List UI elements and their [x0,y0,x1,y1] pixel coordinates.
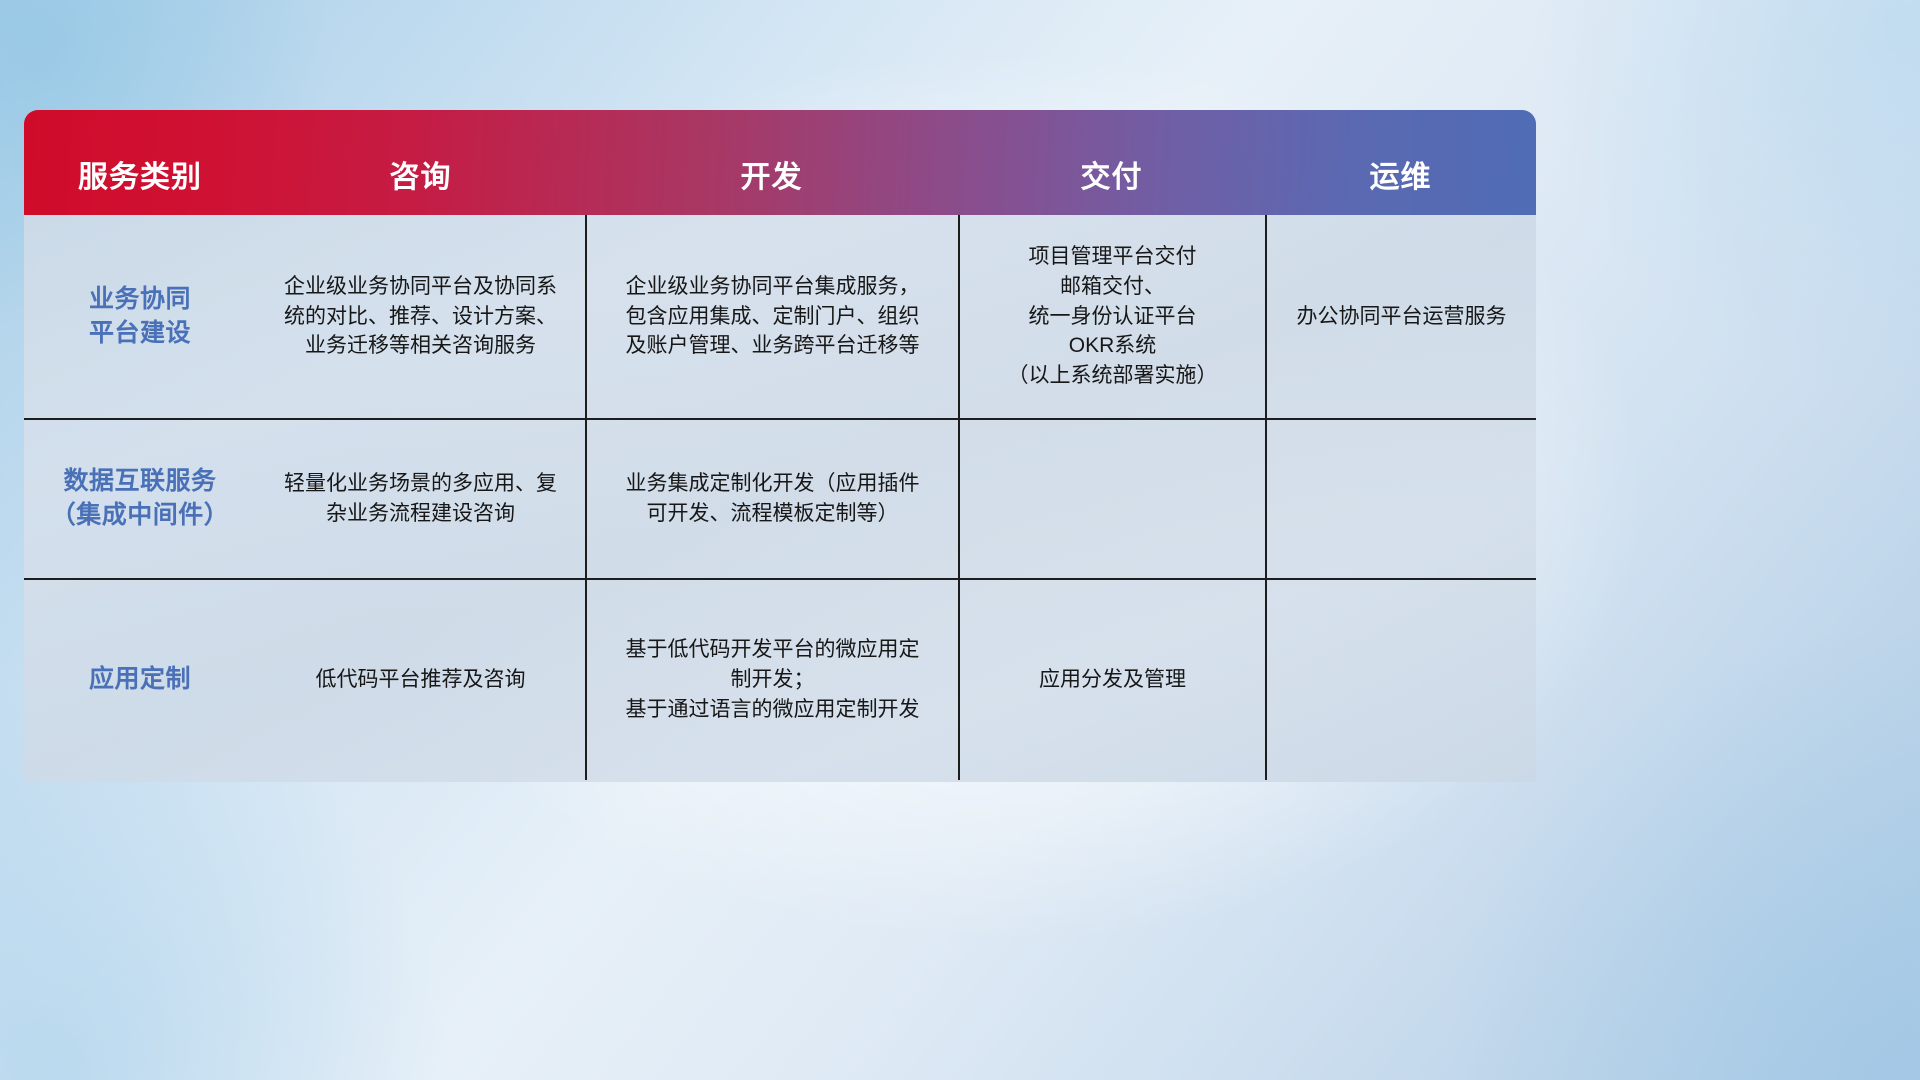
row-category-label: 数据互联服务 （集成中间件） [24,420,256,578]
column-header-development: 开发 [585,163,958,193]
cell-operations [1265,580,1536,780]
cell-delivery: 应用分发及管理 [958,580,1265,780]
row-category-label: 业务协同 平台建设 [24,215,256,418]
column-header-category: 服务类别 [24,163,256,193]
column-header-consulting: 咨询 [256,163,585,193]
column-header-delivery: 交付 [958,163,1265,193]
column-header-operations: 运维 [1265,163,1536,193]
service-matrix-table: 服务类别 咨询 开发 交付 运维 业务协同 平台建设 企业级业务协同平台及协同系… [24,110,1536,782]
cell-consulting: 企业级业务协同平台及协同系 统的对比、推荐、设计方案、 业务迁移等相关咨询服务 [256,215,585,418]
row-category-label: 应用定制 [24,580,256,780]
cell-operations [1265,420,1536,578]
table-header-row: 服务类别 咨询 开发 交付 运维 [24,110,1536,215]
cell-development: 业务集成定制化开发（应用插件 可开发、流程模板定制等） [585,420,958,578]
cell-delivery [958,420,1265,578]
cell-delivery: 项目管理平台交付 邮箱交付、 统一身份认证平台 OKR系统 （以上系统部署实施） [958,215,1265,418]
cell-consulting: 轻量化业务场景的多应用、复 杂业务流程建设咨询 [256,420,585,578]
cell-development: 基于低代码开发平台的微应用定 制开发； 基于通过语言的微应用定制开发 [585,580,958,780]
cell-operations: 办公协同平台运营服务 [1265,215,1536,418]
table-body: 业务协同 平台建设 企业级业务协同平台及协同系 统的对比、推荐、设计方案、 业务… [24,215,1536,782]
table-row: 数据互联服务 （集成中间件） 轻量化业务场景的多应用、复 杂业务流程建设咨询 业… [24,418,1536,578]
table-row: 业务协同 平台建设 企业级业务协同平台及协同系 统的对比、推荐、设计方案、 业务… [24,215,1536,418]
table-row: 应用定制 低代码平台推荐及咨询 基于低代码开发平台的微应用定 制开发； 基于通过… [24,578,1536,780]
cell-consulting: 低代码平台推荐及咨询 [256,580,585,780]
cell-development: 企业级业务协同平台集成服务， 包含应用集成、定制门户、组织 及账户管理、业务跨平… [585,215,958,418]
